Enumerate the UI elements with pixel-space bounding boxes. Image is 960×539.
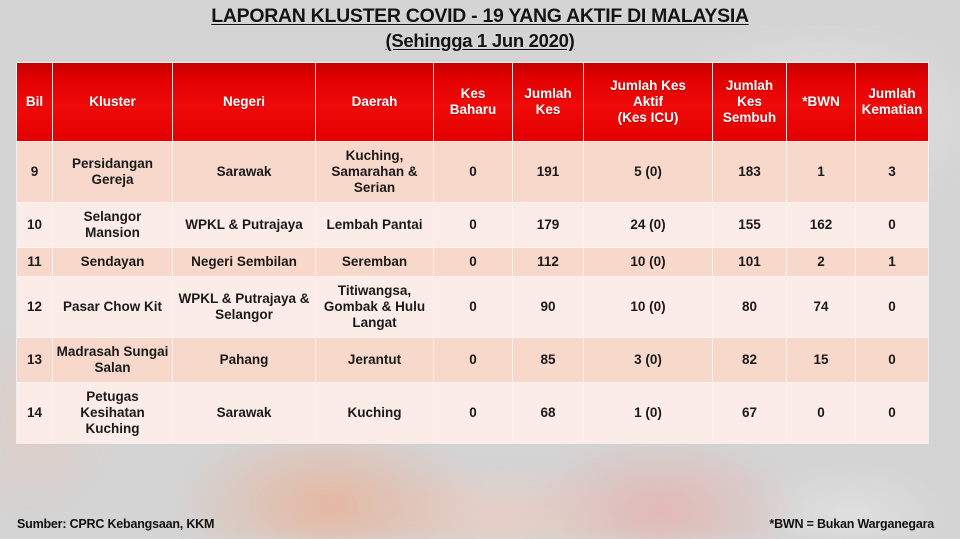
- cell-jumlah-kes-sembuh: 155: [713, 203, 787, 248]
- column-header-kes-baharu: Kes Baharu: [434, 63, 513, 142]
- cell-kes-baharu: 0: [434, 338, 513, 383]
- header-line: Negeri: [223, 94, 265, 109]
- cluster-report-table: Bil Kluster Negeri Daerah Kes Baharu Jum…: [17, 63, 928, 443]
- table-header: Bil Kluster Negeri Daerah Kes Baharu Jum…: [17, 63, 928, 142]
- cell-bil: 9: [17, 142, 53, 203]
- cell-jumlah-kes-sembuh: 80: [713, 277, 787, 338]
- cell-bil: 13: [17, 338, 53, 383]
- cell-kes-baharu: 0: [434, 142, 513, 203]
- column-header-jumlah-kematian: Jumlah Kematian: [856, 63, 928, 142]
- cell-bwn: 2: [787, 248, 856, 277]
- cell-jumlah-kematian: 0: [856, 277, 928, 338]
- cell-jumlah-kes: 191: [513, 142, 584, 203]
- cell-jumlah-kematian: 1: [856, 248, 928, 277]
- cell-jumlah-kes: 112: [513, 248, 584, 277]
- column-header-jumlah-kes-aktif: Jumlah Kes Aktif (Kes ICU): [584, 63, 713, 142]
- cell-jumlah-kes-sembuh: 67: [713, 383, 787, 443]
- table-header-row: Bil Kluster Negeri Daerah Kes Baharu Jum…: [17, 63, 928, 142]
- slide: LAPORAN KLUSTER COVID - 19 YANG AKTIF DI…: [0, 0, 960, 539]
- cell-bil: 11: [17, 248, 53, 277]
- cell-kes-baharu: 0: [434, 248, 513, 277]
- cell-jumlah-kes: 85: [513, 338, 584, 383]
- cell-jumlah-kes-aktif: 1 (0): [584, 383, 713, 443]
- table-row: 11 Sendayan Negeri Sembilan Seremban 0 1…: [17, 248, 928, 277]
- header-line: Kluster: [89, 94, 136, 109]
- column-header-negeri: Negeri: [173, 63, 316, 142]
- footer: Sumber: CPRC Kebangsaan, KKM *BWN = Buka…: [17, 517, 934, 531]
- cell-kluster: Persidangan Gereja: [53, 142, 173, 203]
- column-header-bil: Bil: [17, 63, 53, 142]
- cell-jumlah-kes: 90: [513, 277, 584, 338]
- header-line: Kes: [737, 94, 762, 109]
- cell-kluster: Sendayan: [53, 248, 173, 277]
- cell-jumlah-kes-aktif: 10 (0): [584, 277, 713, 338]
- cell-daerah: Titiwangsa, Gombak & Hulu Langat: [316, 277, 434, 338]
- header-line: Jumlah: [868, 86, 915, 101]
- table-row: 13 Madrasah Sungai Salan Pahang Jerantut…: [17, 338, 928, 383]
- cell-jumlah-kes-sembuh: 101: [713, 248, 787, 277]
- cell-kluster: Pasar Chow Kit: [53, 277, 173, 338]
- header-line: Daerah: [352, 94, 398, 109]
- column-header-jumlah-kes: Jumlah Kes: [513, 63, 584, 142]
- cell-jumlah-kes: 68: [513, 383, 584, 443]
- footer-source: Sumber: CPRC Kebangsaan, KKM: [17, 517, 214, 531]
- page-title: LAPORAN KLUSTER COVID - 19 YANG AKTIF DI…: [211, 4, 749, 29]
- header-line: Jumlah: [726, 78, 773, 93]
- table-row: 10 Selangor Mansion WPKL & Putrajaya Lem…: [17, 203, 928, 248]
- table-row: 12 Pasar Chow Kit WPKL & Putrajaya & Sel…: [17, 277, 928, 338]
- cell-negeri: Negeri Sembilan: [173, 248, 316, 277]
- cell-jumlah-kes-sembuh: 82: [713, 338, 787, 383]
- cell-daerah: Kuching: [316, 383, 434, 443]
- cell-negeri: Pahang: [173, 338, 316, 383]
- cell-negeri: WPKL & Putrajaya: [173, 203, 316, 248]
- column-header-jumlah-kes-sembuh: Jumlah Kes Sembuh: [713, 63, 787, 142]
- cell-jumlah-kematian: 0: [856, 338, 928, 383]
- header-line: Baharu: [450, 102, 497, 117]
- header-line: Jumlah Kes: [610, 78, 686, 93]
- header-line: *BWN: [802, 94, 840, 109]
- header-line: Aktif: [633, 94, 663, 109]
- header-line: Kematian: [862, 102, 923, 117]
- header-line: Jumlah: [524, 86, 571, 101]
- cell-jumlah-kes-aktif: 3 (0): [584, 338, 713, 383]
- cell-bwn: 1: [787, 142, 856, 203]
- cell-bil: 10: [17, 203, 53, 248]
- table-row: 14 Petugas Kesihatan Kuching Sarawak Kuc…: [17, 383, 928, 443]
- cell-kes-baharu: 0: [434, 277, 513, 338]
- cell-jumlah-kematian: 0: [856, 203, 928, 248]
- cell-jumlah-kematian: 3: [856, 142, 928, 203]
- page-subtitle: (Sehingga 1 Jun 2020): [385, 29, 574, 53]
- table-body: 9 Persidangan Gereja Sarawak Kuching, Sa…: [17, 142, 928, 443]
- cell-jumlah-kes-aktif: 5 (0): [584, 142, 713, 203]
- cell-kes-baharu: 0: [434, 203, 513, 248]
- cell-daerah: Lembah Pantai: [316, 203, 434, 248]
- cell-daerah: Seremban: [316, 248, 434, 277]
- header-line: Bil: [26, 94, 43, 109]
- column-header-bwn: *BWN: [787, 63, 856, 142]
- cell-kluster: Madrasah Sungai Salan: [53, 338, 173, 383]
- header-line: (Kes ICU): [618, 110, 679, 125]
- cell-negeri: Sarawak: [173, 383, 316, 443]
- cell-bwn: 162: [787, 203, 856, 248]
- header-line: Kes: [536, 102, 561, 117]
- cell-kluster: Selangor Mansion: [53, 203, 173, 248]
- cell-jumlah-kes-aktif: 24 (0): [584, 203, 713, 248]
- cell-kluster: Petugas Kesihatan Kuching: [53, 383, 173, 443]
- cell-bwn: 74: [787, 277, 856, 338]
- cell-bil: 14: [17, 383, 53, 443]
- column-header-daerah: Daerah: [316, 63, 434, 142]
- cell-jumlah-kes-sembuh: 183: [713, 142, 787, 203]
- footer-note: *BWN = Bukan Warganegara: [769, 517, 934, 531]
- cell-bwn: 15: [787, 338, 856, 383]
- title-block: LAPORAN KLUSTER COVID - 19 YANG AKTIF DI…: [0, 4, 960, 53]
- cell-jumlah-kes-aktif: 10 (0): [584, 248, 713, 277]
- cell-jumlah-kematian: 0: [856, 383, 928, 443]
- cell-negeri: WPKL & Putrajaya & Selangor: [173, 277, 316, 338]
- table-row: 9 Persidangan Gereja Sarawak Kuching, Sa…: [17, 142, 928, 203]
- cell-kes-baharu: 0: [434, 383, 513, 443]
- header-line: Sembuh: [723, 110, 776, 125]
- cell-daerah: Kuching, Samarahan & Serian: [316, 142, 434, 203]
- cell-jumlah-kes: 179: [513, 203, 584, 248]
- cell-bil: 12: [17, 277, 53, 338]
- header-line: Kes: [461, 86, 486, 101]
- column-header-kluster: Kluster: [53, 63, 173, 142]
- cell-bwn: 0: [787, 383, 856, 443]
- cell-negeri: Sarawak: [173, 142, 316, 203]
- cell-daerah: Jerantut: [316, 338, 434, 383]
